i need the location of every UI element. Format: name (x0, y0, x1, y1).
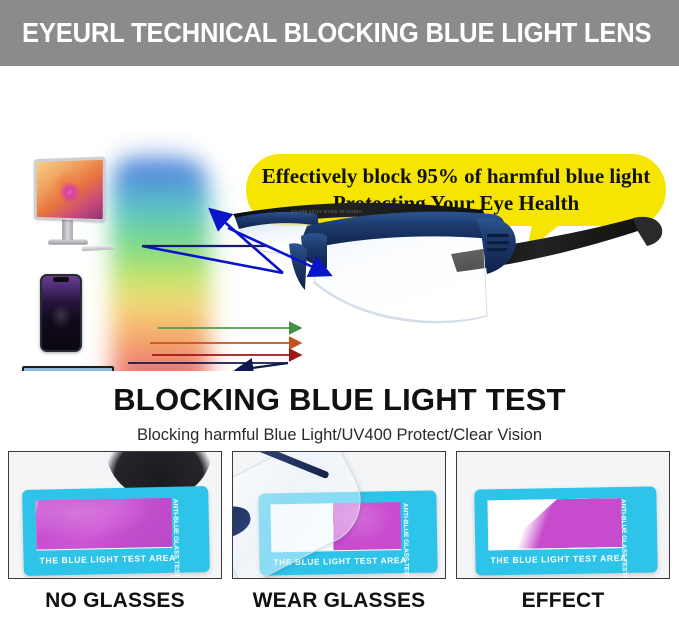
test-card-label: THE BLUE LIGHT TEST AREA (490, 553, 626, 565)
smartphone-notch (53, 277, 69, 282)
test-card: THE BLUE LIGHT TEST AREA ANTI-BLUE GLASS… (474, 486, 657, 575)
blue-light-test-section: BLOCKING BLUE LIGHT TEST Blocking harmfu… (0, 371, 679, 635)
panel-captions: NO GLASSES WEAR GLASSES EFFECT (8, 589, 671, 613)
ray-blue-reflected-1 (212, 211, 283, 273)
caption-no-glasses: NO GLASSES (8, 589, 222, 613)
ray-navy-reflected (238, 363, 288, 370)
test-panels: THE BLUE LIGHT TEST AREA ANTI-BLUE GLASS… (8, 451, 671, 579)
caption-wear-glasses: WEAR GLASSES (232, 589, 446, 613)
test-card-side-label: ANTI-BLUE GLASS TESTING (401, 503, 410, 579)
test-card: THE BLUE LIGHT TEST AREA ANTI-BLUE GLASS… (22, 486, 210, 576)
test-panel-no-glasses: THE BLUE LIGHT TEST AREA ANTI-BLUE GLASS… (8, 451, 222, 579)
test-strip-boundary (487, 498, 622, 550)
test-panel-effect: THE BLUE LIGHT TEST AREA ANTI-BLUE GLASS… (456, 451, 670, 579)
page-title: EYEURL TECHNICAL BLOCKING BLUE LIGHT LEN… (22, 17, 651, 49)
test-strip-reactive (35, 498, 172, 551)
hero-section: Effectively block 95% of harmful blue li… (0, 66, 679, 371)
caption-effect: EFFECT (456, 589, 670, 613)
test-card-label: THE BLUE LIGHT TEST AREA (39, 553, 175, 566)
test-section-title: BLOCKING BLUE LIGHT TEST (0, 371, 679, 418)
test-panel-wear-glasses: THE BLUE LIGHT TEST AREA ANTI-BLUE GLASS… (232, 451, 446, 579)
light-ray-arrows (0, 66, 679, 371)
test-card-side-label: ANTI-BLUE GLASS TESTING (171, 499, 180, 579)
header-banner: EYEURL TECHNICAL BLOCKING BLUE LIGHT LEN… (0, 0, 679, 66)
ray-blue-incoming-1 (142, 246, 283, 273)
test-section-subtitle: Blocking harmful Blue Light/UV400 Protec… (0, 418, 679, 445)
test-card-side-label: ANTI-BLUE GLASS TESTING (619, 499, 628, 579)
